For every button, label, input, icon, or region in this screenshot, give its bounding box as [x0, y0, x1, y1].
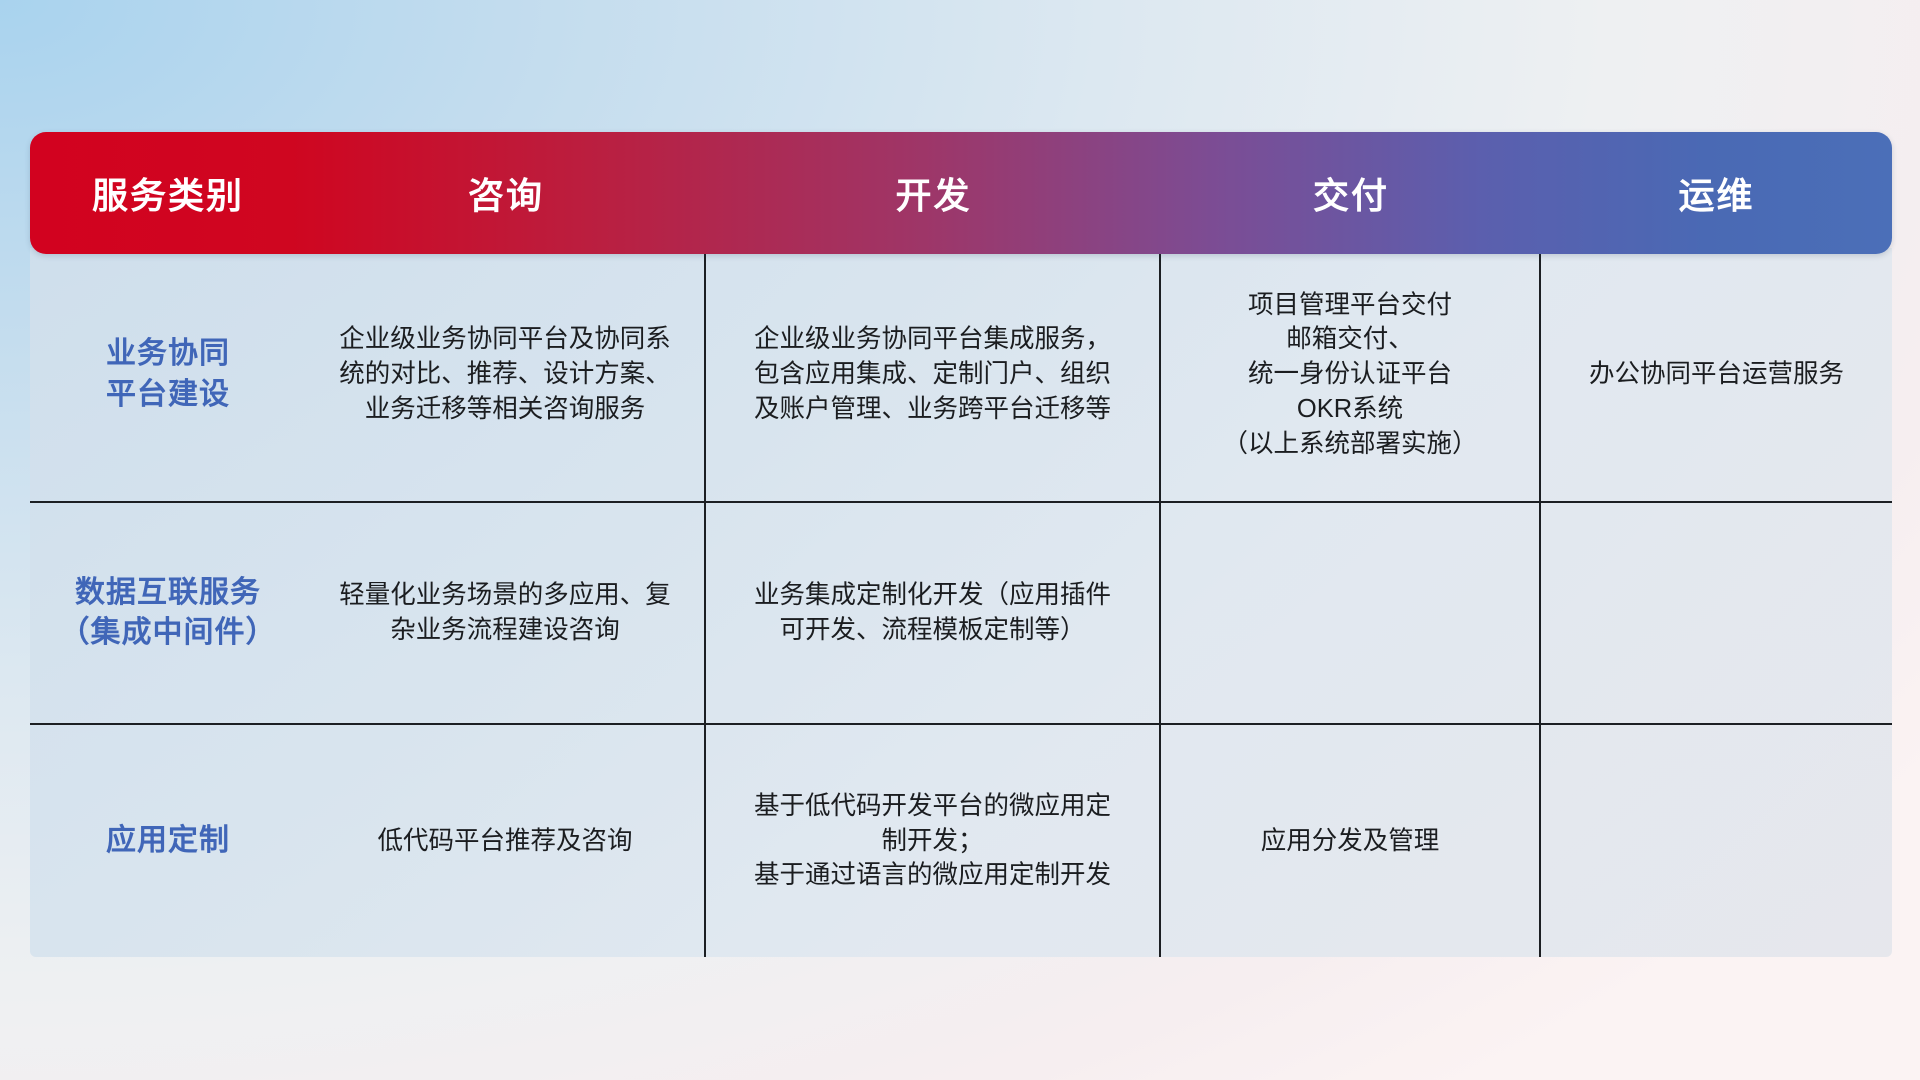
cell-r2-development: 业务集成定制化开发（应用插件 可开发、流程模板定制等）	[706, 503, 1161, 723]
service-matrix-table: 服务类别 咨询 开发 交付 运维 业务协同 平台建设 企业级业务协同平台及协同系…	[30, 132, 1892, 956]
table-row: 应用定制 低代码平台推荐及咨询 基于低代码开发平台的微应用定 制开发； 基于通过…	[30, 723, 1892, 957]
row-label-data-integration: 数据互联服务 （集成中间件）	[30, 503, 306, 723]
table-row: 业务协同 平台建设 企业级业务协同平台及协同系 统的对比、推荐、设计方案、 业务…	[30, 248, 1892, 501]
cell-r1-development: 企业级业务协同平台集成服务， 包含应用集成、定制门户、组织 及账户管理、业务跨平…	[706, 248, 1161, 501]
table-header-row: 服务类别 咨询 开发 交付 运维	[30, 132, 1892, 254]
slide-canvas: 服务类别 咨询 开发 交付 运维 业务协同 平台建设 企业级业务协同平台及协同系…	[0, 0, 1920, 1080]
cell-r2-consulting: 轻量化业务场景的多应用、复 杂业务流程建设咨询	[306, 503, 706, 723]
cell-r3-operations	[1541, 725, 1892, 957]
table-body: 业务协同 平台建设 企业级业务协同平台及协同系 统的对比、推荐、设计方案、 业务…	[30, 248, 1892, 957]
column-header-development: 开发	[706, 132, 1161, 254]
column-header-delivery: 交付	[1161, 132, 1541, 254]
cell-r2-operations	[1541, 503, 1892, 723]
table-row: 数据互联服务 （集成中间件） 轻量化业务场景的多应用、复 杂业务流程建设咨询 业…	[30, 501, 1892, 723]
column-header-service-category: 服务类别	[30, 132, 306, 254]
cell-r1-consulting: 企业级业务协同平台及协同系 统的对比、推荐、设计方案、 业务迁移等相关咨询服务	[306, 248, 706, 501]
cell-r1-delivery: 项目管理平台交付 邮箱交付、 统一身份认证平台 OKR系统 （以上系统部署实施）	[1161, 248, 1541, 501]
column-header-consulting: 咨询	[306, 132, 706, 254]
row-label-collaboration-platform: 业务协同 平台建设	[30, 248, 306, 501]
cell-r3-delivery: 应用分发及管理	[1161, 725, 1541, 957]
column-header-operations: 运维	[1541, 132, 1892, 254]
cell-r3-consulting: 低代码平台推荐及咨询	[306, 725, 706, 957]
row-label-app-customization: 应用定制	[30, 725, 306, 957]
cell-r2-delivery	[1161, 503, 1541, 723]
cell-r1-operations: 办公协同平台运营服务	[1541, 248, 1892, 501]
cell-r3-development: 基于低代码开发平台的微应用定 制开发； 基于通过语言的微应用定制开发	[706, 725, 1161, 957]
